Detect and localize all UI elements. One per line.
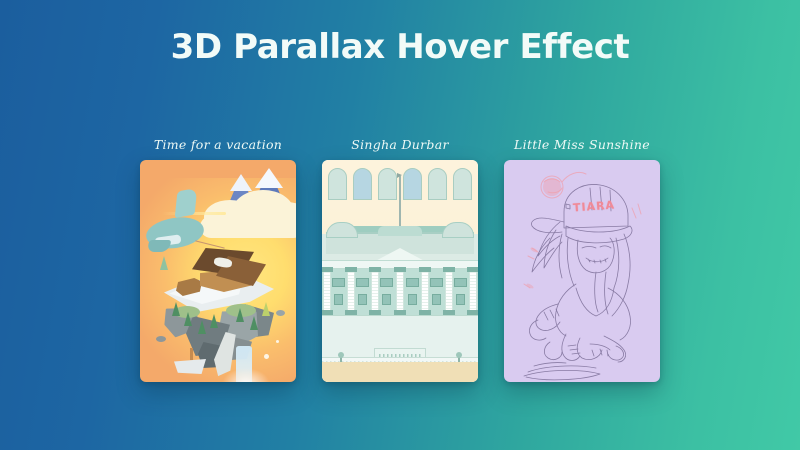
pine-tree-icon <box>160 256 168 270</box>
snowcap-right-icon <box>255 168 283 188</box>
floating-rock-speck <box>276 310 285 316</box>
column-capital <box>443 267 455 272</box>
pine-tree-icon <box>262 302 270 316</box>
column <box>347 270 355 314</box>
window <box>382 294 391 305</box>
column-capital <box>419 267 431 272</box>
column <box>445 270 453 314</box>
arch <box>353 168 372 200</box>
sketch-artwork: TIARA <box>504 160 660 382</box>
column-capital <box>394 267 406 272</box>
card-image-vacation[interactable] <box>140 160 296 382</box>
window <box>454 278 467 287</box>
pine-tree-icon <box>236 308 244 322</box>
palace-artwork <box>322 160 478 382</box>
column <box>371 270 379 314</box>
pine-tree-icon <box>172 302 180 316</box>
window <box>408 294 417 305</box>
card-title-3: Little Miss Sunshine <box>504 134 660 160</box>
window <box>406 278 419 287</box>
card-title-1: Time for a vacation <box>140 134 296 160</box>
ground <box>322 362 478 382</box>
dome-center <box>378 226 422 236</box>
column <box>396 270 404 314</box>
card-image-sunshine[interactable]: TIARA <box>504 160 660 382</box>
column-capital <box>369 267 381 272</box>
column <box>323 270 331 314</box>
column <box>469 270 477 314</box>
column-capital <box>345 267 357 272</box>
parallax-card-2[interactable]: Singha Durbar <box>322 134 478 382</box>
window <box>430 278 443 287</box>
waterfall-mist <box>222 368 270 382</box>
window <box>456 294 465 305</box>
arch <box>453 168 472 200</box>
window <box>432 294 441 305</box>
airship-fin <box>175 188 198 218</box>
card-title-2: Singha Durbar <box>322 134 478 160</box>
parallax-card-3[interactable]: Little Miss Sunshine <box>504 134 660 382</box>
pine-tree-icon <box>198 320 206 334</box>
window <box>380 278 393 287</box>
arch <box>428 168 447 200</box>
card-gallery: Time for a vacation <box>140 134 660 382</box>
page-title: 3D Parallax Hover Effect <box>0 27 800 67</box>
island-artwork <box>140 160 296 382</box>
arch <box>403 168 422 200</box>
pine-tree-icon <box>184 312 192 326</box>
boat-mast <box>190 348 193 360</box>
character-line-sketch <box>504 160 660 382</box>
window <box>356 278 369 287</box>
arch <box>328 168 347 200</box>
window <box>358 294 367 305</box>
floating-speck <box>264 354 269 359</box>
snowcap-left-icon <box>230 174 252 191</box>
parallax-card-1[interactable]: Time for a vacation <box>140 134 296 382</box>
floating-rock-speck <box>156 336 166 342</box>
window <box>332 278 345 287</box>
pine-tree-icon <box>250 316 258 330</box>
card-image-palace[interactable] <box>322 160 478 382</box>
window <box>334 294 343 305</box>
floating-speck <box>276 340 279 343</box>
pine-tree-icon <box>210 314 218 328</box>
column-capital <box>322 267 333 272</box>
column-capital <box>467 267 478 272</box>
column <box>421 270 429 314</box>
cloud-icon <box>200 216 296 238</box>
arch <box>378 168 397 200</box>
